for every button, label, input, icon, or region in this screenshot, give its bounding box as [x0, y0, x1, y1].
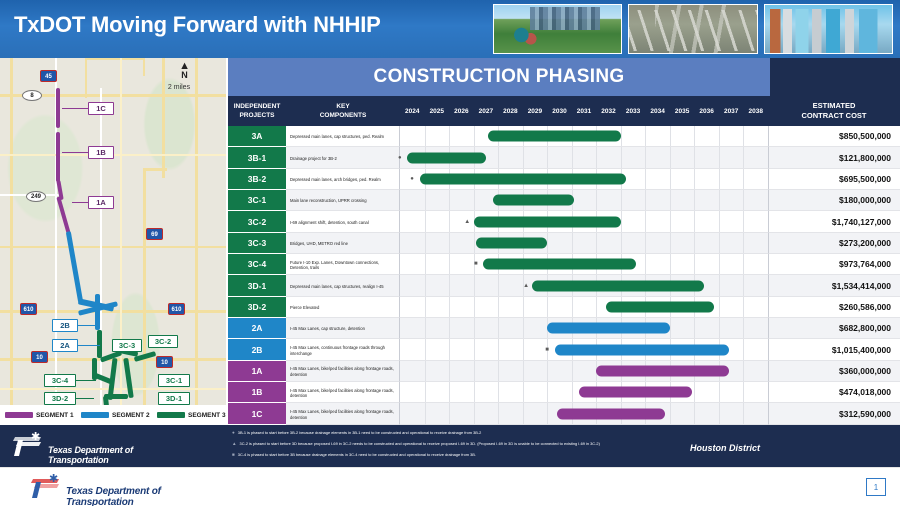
table-row[interactable]: 3ADepressed main lanes, cap structures, …	[228, 126, 900, 147]
route-shield-i610: 610	[168, 303, 185, 315]
year-label-2033: 2033	[621, 96, 646, 126]
grid-line	[425, 254, 426, 274]
grid-line	[498, 339, 499, 359]
header-line: INDEPENDENT	[228, 102, 286, 111]
grid-line	[694, 190, 695, 210]
cell-project-3d-1: 3D-1	[228, 275, 286, 296]
district-label: Houston District	[690, 443, 760, 453]
grid-line	[498, 382, 499, 402]
year-label-2024: 2024	[400, 96, 425, 126]
grid-line	[425, 275, 426, 295]
grid-line	[523, 147, 524, 167]
table-row[interactable]: 3C-2I-69 alignment shift, detention, sou…	[228, 211, 900, 232]
grid-line	[743, 403, 744, 423]
grid-line	[694, 403, 695, 423]
grid-line	[719, 403, 720, 423]
table-row[interactable]: 3C-3Bridges, UHD, METRO red line$273,200…	[228, 233, 900, 254]
legend-swatch	[81, 412, 109, 418]
cell-timeline	[400, 233, 768, 254]
map-callout-2a[interactable]: 2A	[52, 339, 78, 352]
grid-line	[719, 126, 720, 146]
route-shield-8: 8	[22, 90, 42, 101]
gantt-bar-3d-1[interactable]	[532, 280, 704, 291]
cell-key-components: Depressed main lanes, arch bridges, ped.…	[286, 169, 400, 190]
year-label-2036: 2036	[694, 96, 719, 126]
cell-timeline: ●	[400, 169, 768, 190]
gantt-bar-1a[interactable]	[596, 365, 728, 376]
grid-line	[694, 211, 695, 231]
grid-line	[425, 297, 426, 317]
route-shield-i10: 10	[31, 351, 48, 363]
grid-line	[425, 126, 426, 146]
grid-line	[743, 254, 744, 274]
houston-downtown-skyline-photo	[764, 4, 893, 54]
cell-project-3b-1: 3B-1	[228, 147, 286, 168]
cell-contract-cost: $682,800,000	[768, 318, 900, 339]
grid-line	[474, 275, 475, 295]
cell-key-components: I-45 Max Lanes, cap structure, detention	[286, 318, 400, 339]
map-callout-arrow	[62, 108, 88, 109]
cell-timeline	[400, 382, 768, 403]
footnote-3: ■3C-4 is phased to start before 3B becau…	[232, 451, 682, 459]
star-icon: ✱	[31, 432, 40, 443]
map-road-local	[0, 154, 228, 156]
map-road-local	[0, 388, 228, 390]
grid-line	[572, 361, 573, 381]
footnote-marker-triangle-icon: ▲	[464, 219, 470, 225]
table-row[interactable]: 3D-1Depressed main lanes, cap structures…	[228, 275, 900, 296]
grid-line	[621, 211, 622, 231]
grid-line	[645, 233, 646, 253]
grid-line	[474, 361, 475, 381]
cell-project-1a: 1A	[228, 361, 286, 382]
cell-key-components: Pierce Elevated	[286, 297, 400, 318]
grid-line	[670, 211, 671, 231]
grid-line	[645, 147, 646, 167]
cyclists-park-skyline-photo	[493, 4, 622, 54]
cell-key-components: I-45 Max Lanes, continuous frontage road…	[286, 339, 400, 360]
legend-swatch	[157, 412, 185, 418]
grid-line	[694, 318, 695, 338]
footnote-marker-icon: ■	[232, 451, 235, 459]
map-callout-2b[interactable]: 2B	[52, 319, 78, 332]
grid-line	[743, 126, 744, 146]
grid-line	[547, 403, 548, 423]
grid-line	[498, 297, 499, 317]
cell-contract-cost: $474,018,000	[768, 382, 900, 403]
grid-line	[621, 126, 622, 146]
gantt-bar-3c-1[interactable]	[493, 195, 574, 206]
cell-contract-cost: $850,500,000	[768, 126, 900, 147]
grid-line	[449, 275, 450, 295]
grid-line	[474, 297, 475, 317]
cell-project-1b: 1B	[228, 382, 286, 403]
cell-timeline: ●	[400, 147, 768, 168]
cell-contract-cost: $180,000,000	[768, 190, 900, 211]
year-label-2026: 2026	[449, 96, 474, 126]
grid-line	[523, 297, 524, 317]
gantt-bar-3d-2[interactable]	[606, 301, 714, 312]
cell-contract-cost: $273,200,000	[768, 233, 900, 254]
grid-line	[645, 169, 646, 189]
banner-spacer	[770, 58, 900, 96]
grid-line	[719, 318, 720, 338]
logo-text: Texas Department of Transportation	[48, 445, 192, 465]
table-row[interactable]: 1BI-45 Max Lanes, bike/ped facilities al…	[228, 382, 900, 403]
table-row[interactable]: 1AI-45 Max Lanes, bike/ped facilities al…	[228, 361, 900, 382]
gantt-bar-3c-2[interactable]	[474, 216, 621, 227]
footnote-list: ●3B-1 is phased to start before 3B-2 bec…	[232, 429, 682, 462]
year-label-2037: 2037	[719, 96, 744, 126]
map-callout-3c4[interactable]: 3C-4	[44, 374, 76, 387]
grid-line	[719, 297, 720, 317]
table-row[interactable]: 3C-1Main lane reconstruction, UPRR cross…	[228, 190, 900, 211]
map-callout-3c1[interactable]: 3C-1	[158, 374, 190, 387]
north-arrow: ▲ N	[179, 62, 190, 80]
cell-project-2b: 2B	[228, 339, 286, 360]
panel-banner-title: CONSTRUCTION PHASING	[228, 58, 770, 96]
cell-project-3d-2: 3D-2	[228, 297, 286, 318]
grid-line	[449, 233, 450, 253]
cell-project-2a: 2A	[228, 318, 286, 339]
grid-line	[498, 403, 499, 423]
cell-key-components: I-69 alignment shift, detention, south c…	[286, 211, 400, 232]
gantt-bar-2a[interactable]	[547, 323, 670, 334]
cell-key-components: Bridges, UHD, METRO red line	[286, 233, 400, 254]
cell-contract-cost: $973,764,000	[768, 254, 900, 275]
header-line: ESTIMATED	[768, 101, 900, 111]
cell-project-3b-2: 3B-2	[228, 169, 286, 190]
grid-line	[670, 318, 671, 338]
footnote-2: ▲3C-2 is phased to start before 3D becau…	[232, 440, 682, 448]
highway-interchange-aerial-photo	[628, 4, 757, 54]
year-label-2031: 2031	[572, 96, 597, 126]
grid-line	[719, 275, 720, 295]
map-callout-1a[interactable]: 1A	[88, 196, 114, 209]
table-row[interactable]: 1CI-45 Max Lanes, bike/ped facilities al…	[228, 403, 900, 424]
map-road	[145, 168, 167, 171]
slide-footer: ✱ Texas Department of Transportation 1	[0, 467, 900, 506]
column-header-years: 2024202520262027202820292030203120322033…	[358, 96, 768, 126]
map-legend: SEGMENT 1 SEGMENT 2 SEGMENT 3	[0, 405, 228, 425]
grid-line	[474, 382, 475, 402]
map-callout-arrow	[72, 202, 88, 203]
grid-line	[572, 382, 573, 402]
grid-line	[449, 318, 450, 338]
map-callout-arrow	[62, 152, 88, 153]
grid-line	[425, 361, 426, 381]
grid-line	[670, 169, 671, 189]
grid-line	[425, 211, 426, 231]
year-label-2032: 2032	[596, 96, 621, 126]
route-shield-i610: 610	[20, 303, 37, 315]
header-line: CONTRACT COST	[768, 111, 900, 121]
grid-line	[719, 169, 720, 189]
slide-root: TxDOT Moving Forward with NHHIP ▲ N	[0, 0, 900, 506]
gantt-bar-3c-3[interactable]	[476, 237, 547, 248]
grid-line	[645, 126, 646, 146]
grid-line	[474, 318, 475, 338]
route-shield-i45: 45	[40, 70, 57, 82]
grid-line	[449, 339, 450, 359]
grid-line	[523, 318, 524, 338]
table-row[interactable]: 3B-1Drainage project for 3B-2●$121,800,0…	[228, 147, 900, 168]
cell-timeline: ■	[400, 339, 768, 360]
grid-line	[743, 147, 744, 167]
grid-line	[572, 297, 573, 317]
footnote-marker-square-icon: ■	[545, 347, 549, 353]
map-callout-3d1[interactable]: 3D-1	[158, 392, 190, 405]
gantt-bar-3b-2[interactable]	[420, 173, 626, 184]
gantt-bar-2b[interactable]	[555, 344, 729, 355]
grid-line	[596, 233, 597, 253]
footnote-marker-icon: ●	[232, 429, 235, 437]
column-header-projects: INDEPENDENT PROJECTS	[228, 96, 286, 126]
map-callout-3c2[interactable]: 3C-2	[148, 335, 178, 348]
grid-line	[719, 211, 720, 231]
grid-line	[719, 147, 720, 167]
map-callout-arrow	[76, 380, 96, 381]
grid-line	[645, 211, 646, 231]
route-shield-i69: 69	[146, 228, 163, 240]
footnote-1: ●3B-1 is phased to start before 3B-2 bec…	[232, 429, 682, 437]
table-row[interactable]: 3D-2Pierce Elevated$260,586,000	[228, 297, 900, 318]
logo-text: Texas Department of Transportation	[66, 486, 230, 506]
column-header-cost: ESTIMATED CONTRACT COST	[768, 96, 900, 126]
cell-timeline	[400, 318, 768, 339]
gantt-bar-3a[interactable]	[488, 131, 620, 142]
grid-line	[425, 318, 426, 338]
cell-contract-cost: $1,740,127,000	[768, 211, 900, 232]
cell-key-components: I-45 Max Lanes, bike/ped facilities alon…	[286, 382, 400, 403]
cell-key-components: Depressed main lanes, cap structures, re…	[286, 275, 400, 296]
footnote-marker-triangle-icon: ▲	[523, 283, 529, 289]
map-road	[85, 58, 145, 60]
cell-timeline	[400, 361, 768, 382]
grid-line	[719, 233, 720, 253]
year-label-2029: 2029	[523, 96, 548, 126]
grid-line	[670, 233, 671, 253]
cell-timeline	[400, 190, 768, 211]
cell-contract-cost: $312,590,000	[768, 403, 900, 424]
footnote-marker-circle-icon: ●	[398, 155, 402, 161]
grid-line	[694, 126, 695, 146]
grid-line	[449, 382, 450, 402]
grid-line	[621, 233, 622, 253]
footnote-marker-circle-icon: ●	[410, 176, 414, 182]
map-scale-bar: 2 miles	[148, 84, 210, 91]
map-road	[195, 58, 198, 425]
grid-line	[474, 339, 475, 359]
cell-timeline	[400, 297, 768, 318]
cell-contract-cost: $121,800,000	[768, 147, 900, 168]
footnote-text: 3B-1 is phased to start before 3B-2 beca…	[238, 429, 482, 437]
grid-line	[498, 318, 499, 338]
grid-line	[670, 147, 671, 167]
header-photo-strip	[493, 4, 893, 54]
cell-timeline	[400, 403, 768, 424]
footnote-strip: ✱ Texas Department of Transportation ●3B…	[0, 425, 900, 467]
legend-item-segment2: SEGMENT 2	[76, 412, 152, 419]
map-callout-arrow	[78, 325, 98, 326]
cell-project-3c-4: 3C-4	[228, 254, 286, 275]
table-body: 3ADepressed main lanes, cap structures, …	[228, 126, 900, 425]
legend-swatch	[5, 412, 33, 418]
map-callout-arrow	[76, 398, 94, 399]
grid-line	[498, 275, 499, 295]
grid-line	[474, 126, 475, 146]
grid-line	[498, 147, 499, 167]
grid-line	[547, 382, 548, 402]
gantt-bar-1c[interactable]	[557, 408, 665, 419]
legend-item-segment3: SEGMENT 3	[152, 412, 228, 419]
year-label-2025: 2025	[425, 96, 450, 126]
table-header: INDEPENDENT PROJECTS KEY COMPONENTS 2024…	[228, 96, 900, 126]
map-road	[0, 246, 228, 248]
grid-line	[425, 403, 426, 423]
grid-line	[621, 147, 622, 167]
route-shield-249: 249	[26, 191, 46, 202]
grid-line	[694, 254, 695, 274]
cell-contract-cost: $695,500,000	[768, 169, 900, 190]
map-callout-3c3[interactable]: 3C-3	[112, 339, 142, 352]
cell-project-1c: 1C	[228, 403, 286, 424]
grid-line	[596, 147, 597, 167]
map-road	[10, 58, 13, 425]
grid-line	[425, 339, 426, 359]
grid-line	[425, 233, 426, 253]
construction-phasing-panel: CONSTRUCTION PHASING INDEPENDENT PROJECT…	[228, 58, 900, 425]
grid-line	[694, 382, 695, 402]
year-label-2034: 2034	[645, 96, 670, 126]
grid-line	[449, 361, 450, 381]
grid-line	[719, 382, 720, 402]
year-label-2028: 2028	[498, 96, 523, 126]
page-number: 1	[866, 478, 886, 496]
grid-line	[670, 126, 671, 146]
segment1-route	[56, 132, 60, 182]
cell-key-components: Drainage project for 3B-2	[286, 147, 400, 168]
grid-line	[743, 339, 744, 359]
grid-line	[694, 147, 695, 167]
txdot-logo-footer: ✱ Texas Department of Transportation	[30, 473, 230, 503]
cell-key-components: Future I-10 Exp. Lanes, Downtown connect…	[286, 254, 400, 275]
gantt-bar-3c-4[interactable]	[483, 259, 635, 270]
map-road	[85, 58, 87, 98]
txdot-wing-icon: ✱	[30, 473, 64, 499]
grid-line	[645, 190, 646, 210]
grid-line	[694, 169, 695, 189]
table-row[interactable]: 3C-4Future I-10 Exp. Lanes, Downtown con…	[228, 254, 900, 275]
grid-line	[645, 254, 646, 274]
legend-label: SEGMENT 3	[188, 412, 226, 419]
grid-line	[523, 361, 524, 381]
map-callout-3d2[interactable]: 3D-2	[44, 392, 76, 405]
grid-line	[743, 275, 744, 295]
cell-key-components: Depressed main lanes, cap structures, pe…	[286, 126, 400, 147]
gantt-bar-3b-1[interactable]	[407, 152, 486, 163]
grid-line	[572, 233, 573, 253]
star-icon: ✱	[49, 474, 58, 485]
footnote-marker-square-icon: ■	[474, 261, 478, 267]
segment1-route	[56, 88, 60, 128]
grid-line	[719, 190, 720, 210]
grid-line	[425, 382, 426, 402]
map-road	[143, 58, 145, 76]
cell-project-3c-2: 3C-2	[228, 211, 286, 232]
grid-line	[547, 361, 548, 381]
map-callout-1b[interactable]: 1B	[88, 146, 114, 159]
grid-line	[670, 190, 671, 210]
map-road	[162, 58, 165, 178]
grid-line	[449, 403, 450, 423]
map-callout-arrow	[78, 345, 100, 346]
title-bar: TxDOT Moving Forward with NHHIP	[0, 0, 900, 58]
cell-timeline	[400, 126, 768, 147]
year-label-2030: 2030	[547, 96, 572, 126]
grid-line	[743, 190, 744, 210]
year-label-2027: 2027	[474, 96, 499, 126]
txdot-logo-footnote: ✱ Texas Department of Transportation	[12, 431, 192, 461]
table-row[interactable]: 2AI-45 Max Lanes, cap structure, detenti…	[228, 318, 900, 339]
cell-key-components: I-45 Max Lanes, bike/ped facilities alon…	[286, 403, 400, 424]
cell-timeline: ▲	[400, 211, 768, 232]
cell-contract-cost: $1,534,414,000	[768, 275, 900, 296]
grid-line	[425, 190, 426, 210]
legend-label: SEGMENT 2	[112, 412, 150, 419]
grid-line	[449, 126, 450, 146]
cell-project-3c-3: 3C-3	[228, 233, 286, 254]
grid-line	[449, 211, 450, 231]
grid-line	[474, 233, 475, 253]
cell-key-components: Main lane reconstruction, UPRR crossing	[286, 190, 400, 211]
grid-line	[547, 297, 548, 317]
grid-line	[547, 147, 548, 167]
grid-line	[621, 190, 622, 210]
year-label-2035: 2035	[670, 96, 695, 126]
table-row[interactable]: 3B-2Depressed main lanes, arch bridges, …	[228, 169, 900, 190]
grid-line	[523, 403, 524, 423]
map-road-local	[120, 58, 122, 425]
cell-project-3c-1: 3C-1	[228, 190, 286, 211]
cell-contract-cost: $1,015,400,000	[768, 339, 900, 360]
page-title: TxDOT Moving Forward with NHHIP	[14, 12, 381, 38]
grid-line	[547, 233, 548, 253]
grid-line	[523, 339, 524, 359]
grid-line	[449, 254, 450, 274]
legend-label: SEGMENT 1	[36, 412, 74, 419]
year-label-2038: 2038	[743, 96, 768, 126]
project-map[interactable]: ▲ N 2 miles 1C 1B 1A	[0, 58, 228, 425]
gantt-bar-1b[interactable]	[579, 387, 692, 398]
footnote-text: 3C-2 is phased to start before 3D becaus…	[240, 440, 600, 448]
cell-project-3a: 3A	[228, 126, 286, 147]
grid-line	[474, 403, 475, 423]
grid-line	[523, 382, 524, 402]
grid-line	[449, 297, 450, 317]
grid-line	[498, 361, 499, 381]
txdot-wing-icon: ✱	[12, 431, 46, 457]
grid-line	[743, 211, 744, 231]
grid-line	[596, 190, 597, 210]
grid-line	[743, 233, 744, 253]
grid-line	[743, 318, 744, 338]
map-callout-1c[interactable]: 1C	[88, 102, 114, 115]
map-road	[143, 168, 146, 425]
grid-line	[743, 297, 744, 317]
cell-contract-cost: $360,000,000	[768, 361, 900, 382]
table-row[interactable]: 2BI-45 Max Lanes, continuous frontage ro…	[228, 339, 900, 360]
